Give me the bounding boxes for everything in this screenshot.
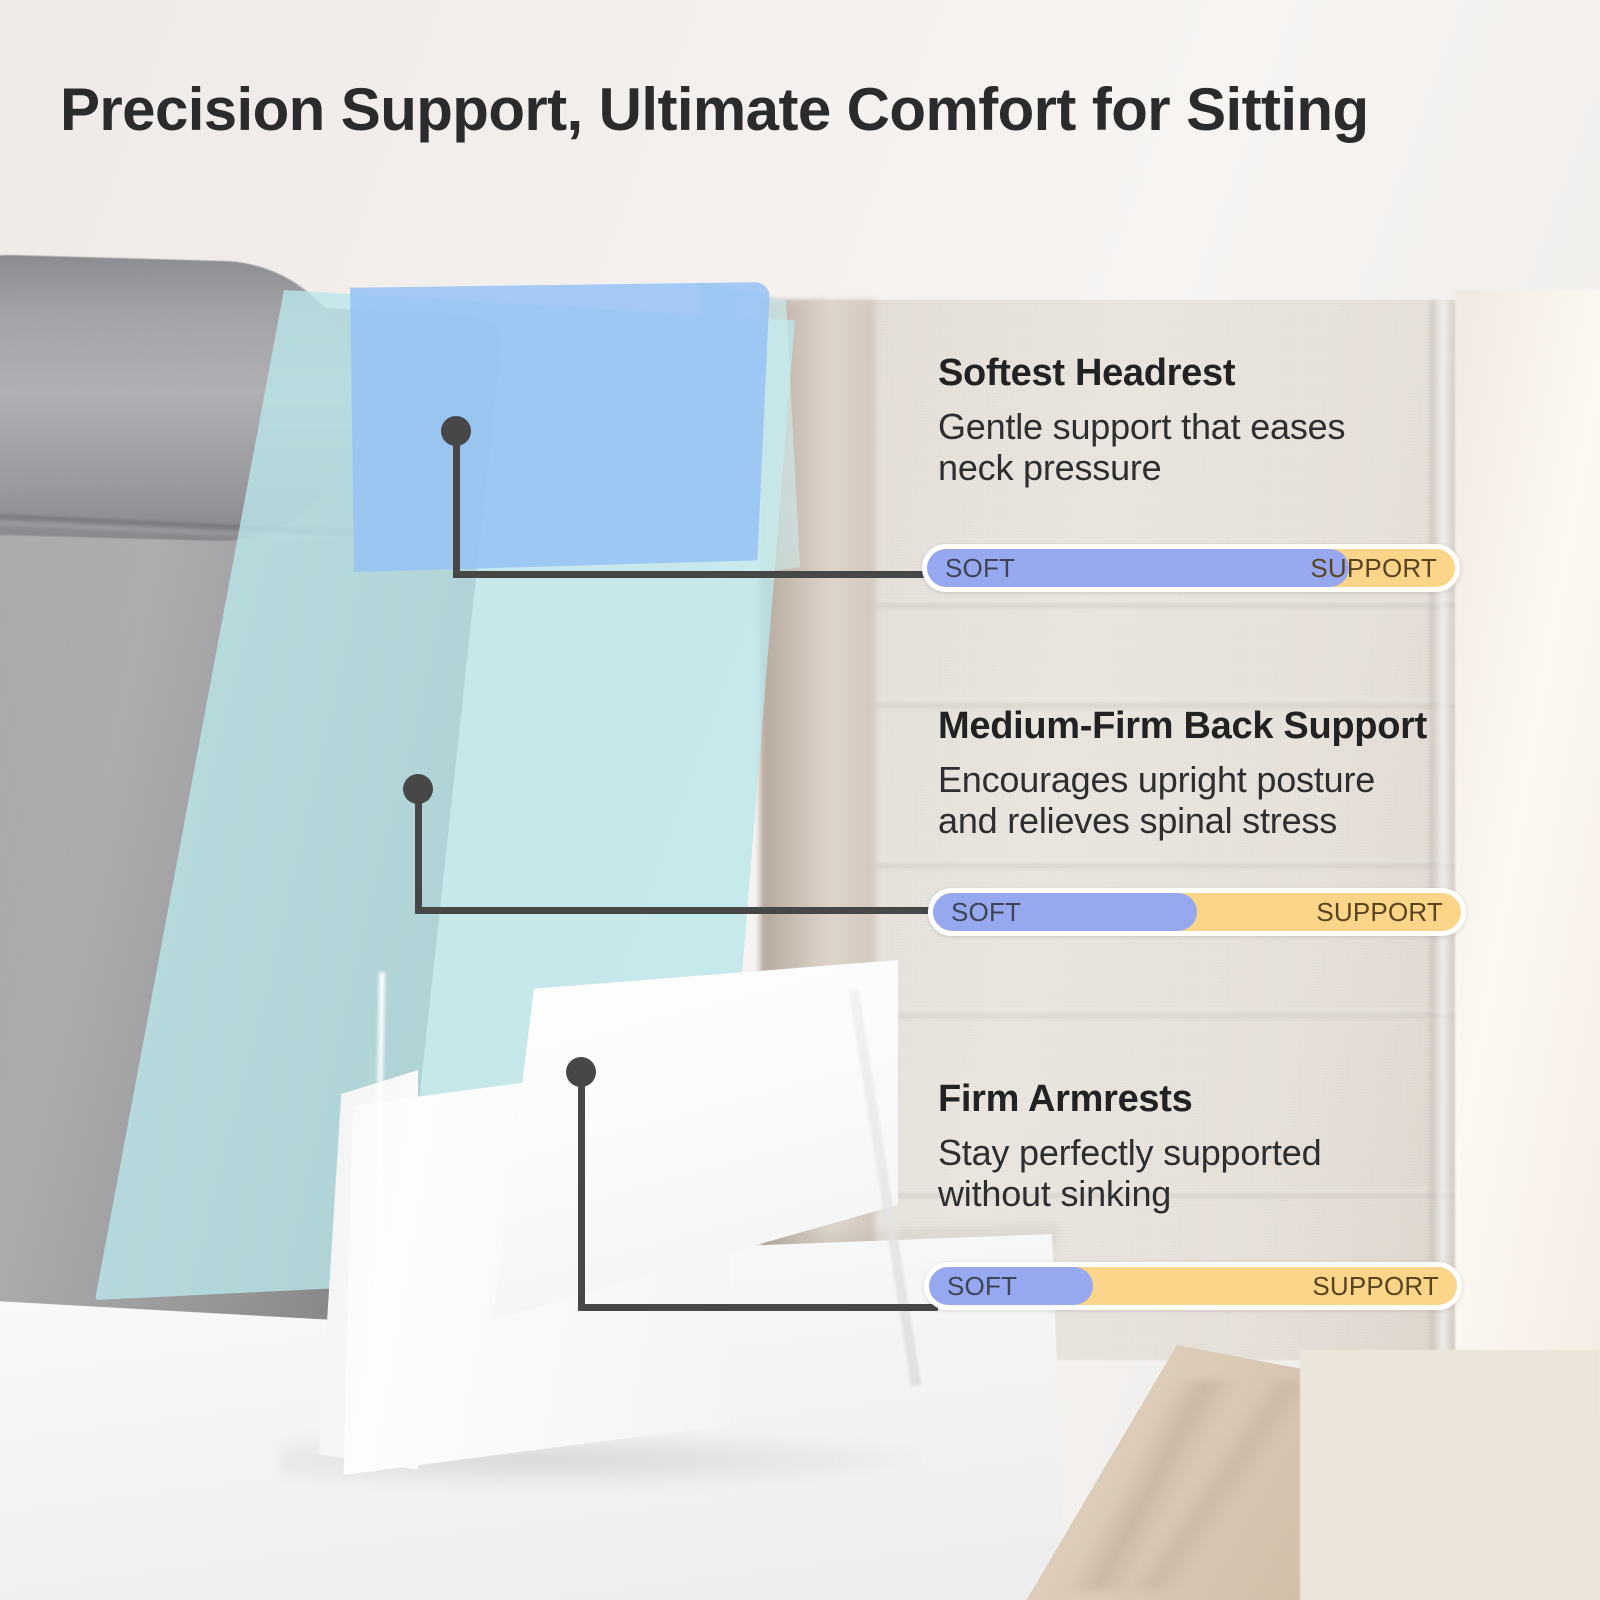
slider-label-soft: SOFT: [927, 553, 1015, 584]
leader-vertical: [578, 1079, 585, 1311]
leader-horizontal: [453, 571, 933, 578]
right-cushion-fabric: [1300, 1350, 1600, 1600]
feature-description-back-support: Encourages upright posture and relieves …: [938, 759, 1558, 843]
slider-label-soft: SOFT: [929, 1271, 1017, 1302]
slider-label-support: SUPPORT: [1312, 1271, 1457, 1302]
firmness-slider-armrests[interactable]: SOFT SUPPORT: [924, 1262, 1462, 1310]
firmness-slider-back-support[interactable]: SOFT SUPPORT: [928, 888, 1466, 936]
feature-block-back-support: Medium-Firm Back Support Encourages upri…: [938, 705, 1558, 842]
slider-label-support: SUPPORT: [1316, 897, 1461, 928]
feature-description-armrests: Stay perfectly supported without sinking: [938, 1132, 1498, 1216]
feature-block-headrest: Softest Headrest Gentle support that eas…: [938, 352, 1538, 489]
product-infographic: Precision Support, Ultimate Comfort for …: [0, 0, 1600, 1600]
firmness-slider-headrest[interactable]: SOFT SUPPORT: [922, 544, 1460, 592]
headrest-zone-overlay: [350, 282, 770, 572]
couch-seam: [775, 600, 1475, 610]
tan-cushion-folds: [1010, 1380, 1310, 1590]
leader-vertical: [453, 438, 460, 578]
leader-vertical: [415, 796, 422, 914]
slider-label-soft: SOFT: [933, 897, 1021, 928]
feature-heading-headrest: Softest Headrest: [938, 352, 1538, 396]
page-title: Precision Support, Ultimate Comfort for …: [60, 78, 1540, 142]
feature-block-armrests: Firm Armrests Stay perfectly supported w…: [938, 1078, 1498, 1215]
leader-horizontal: [578, 1304, 938, 1311]
couch-seam: [775, 860, 1475, 870]
slider-label-support: SUPPORT: [1310, 553, 1455, 584]
feature-heading-back-support: Medium-Firm Back Support: [938, 705, 1558, 749]
feature-description-headrest: Gentle support that eases neck pressure: [938, 406, 1538, 490]
feature-heading-armrests: Firm Armrests: [938, 1078, 1498, 1122]
leader-horizontal: [415, 907, 935, 914]
